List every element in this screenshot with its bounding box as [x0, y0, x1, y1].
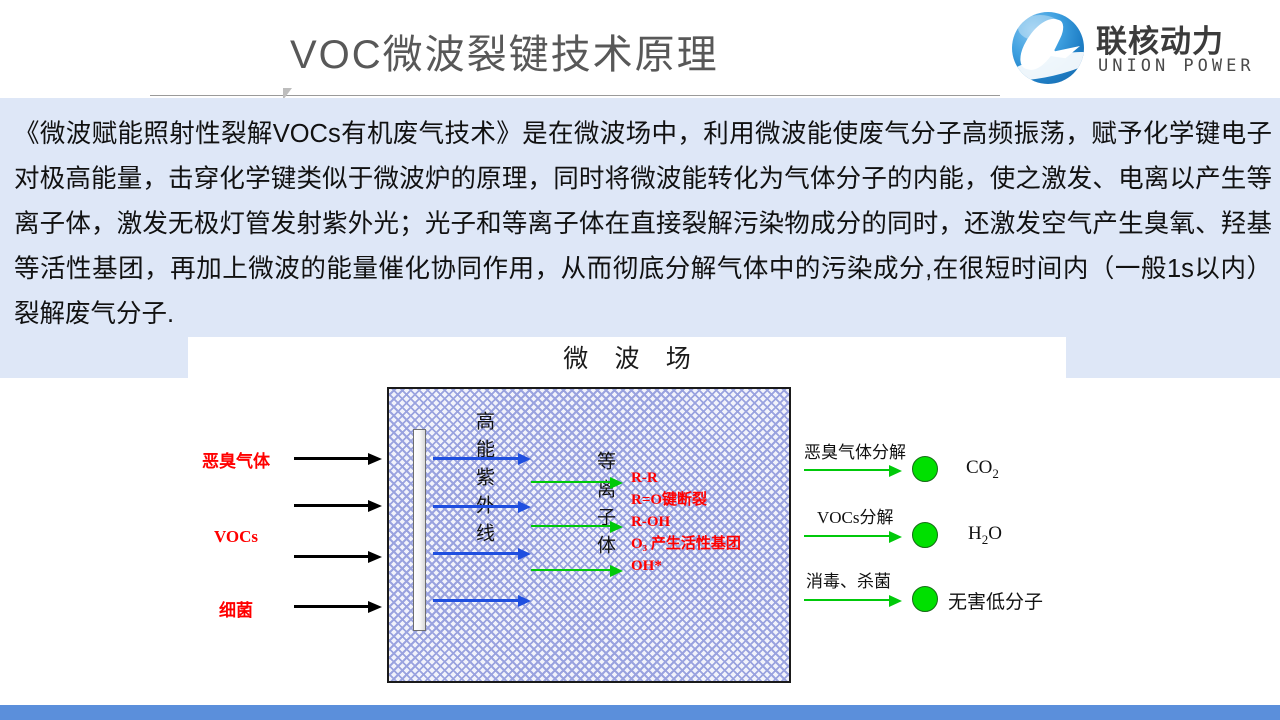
logo-english-name: UNION POWER: [1098, 56, 1255, 76]
company-logo: 联核动力 UNION POWER: [1012, 10, 1274, 86]
logo-chinese-name: 联核动力: [1096, 16, 1224, 61]
diagram-title: 微 波 场: [188, 339, 1066, 375]
reaction-line-1: R-R: [631, 467, 791, 489]
output-dot-2: [912, 522, 938, 548]
reaction-line-5: OH*: [631, 555, 791, 577]
uv-vertical-label: 高能紫外线: [469, 411, 497, 551]
page-title: VOC微波裂键技术原理: [290, 22, 990, 80]
product-co2-sub: 2: [992, 466, 999, 481]
reaction-list: R-R R=O键断裂 R-OH O₃ 产生活性基团 OH*: [631, 467, 791, 577]
title-divider: [150, 95, 1000, 96]
product-co2-text: CO: [966, 457, 992, 478]
input-label-odorous-gas: 恶臭气体: [188, 447, 284, 472]
product-h2o-post: O: [988, 523, 1002, 544]
slide-root: VOC微波裂键技术原理 联核动力 UNION POWER 《微波赋能照射性裂解V…: [0, 0, 1280, 720]
output-label-odorous-decomposed: 恶臭气体分解: [804, 438, 906, 463]
reaction-line-2: R=O键断裂: [631, 489, 791, 511]
output-label-disinfection: 消毒、杀菌: [806, 567, 891, 592]
input-label-bacteria: 细菌: [188, 596, 284, 621]
description-band: 《微波赋能照射性裂解VOCs有机废气技术》是在微波场中，利用微波能使废气分子高频…: [0, 98, 1280, 378]
microwave-chamber: 高能紫外线 等离子体: [387, 387, 791, 683]
reaction-line-4: O₃ 产生活性基团: [631, 533, 791, 555]
output-product-harmless-molecules: 无害低分子: [948, 587, 1043, 614]
input-label-vocs: VOCs: [188, 527, 284, 547]
process-diagram: 微 波 场 恶臭气体 VOCs 细菌 高能紫外线 等离子体: [188, 337, 1066, 697]
reaction-line-3: R-OH: [631, 511, 791, 533]
union-power-globe-icon: [1012, 12, 1084, 84]
output-product-co2: CO2: [966, 457, 999, 482]
output-label-vocs-decomposed: VOCs分解: [817, 503, 894, 528]
plasma-vertical-label: 等离子体: [590, 451, 618, 563]
output-product-h2o: H2O: [968, 523, 1002, 548]
footer-accent-bar: [0, 705, 1280, 720]
electrodeless-uv-lamp-icon: [413, 429, 426, 631]
description-paragraph: 《微波赋能照射性裂解VOCs有机废气技术》是在微波场中，利用微波能使废气分子高频…: [14, 112, 1272, 337]
slide-header: VOC微波裂键技术原理 联核动力 UNION POWER: [0, 0, 1280, 96]
output-dot-3: [912, 586, 938, 612]
product-h2o-pre: H: [968, 523, 982, 544]
output-dot-1: [912, 456, 938, 482]
